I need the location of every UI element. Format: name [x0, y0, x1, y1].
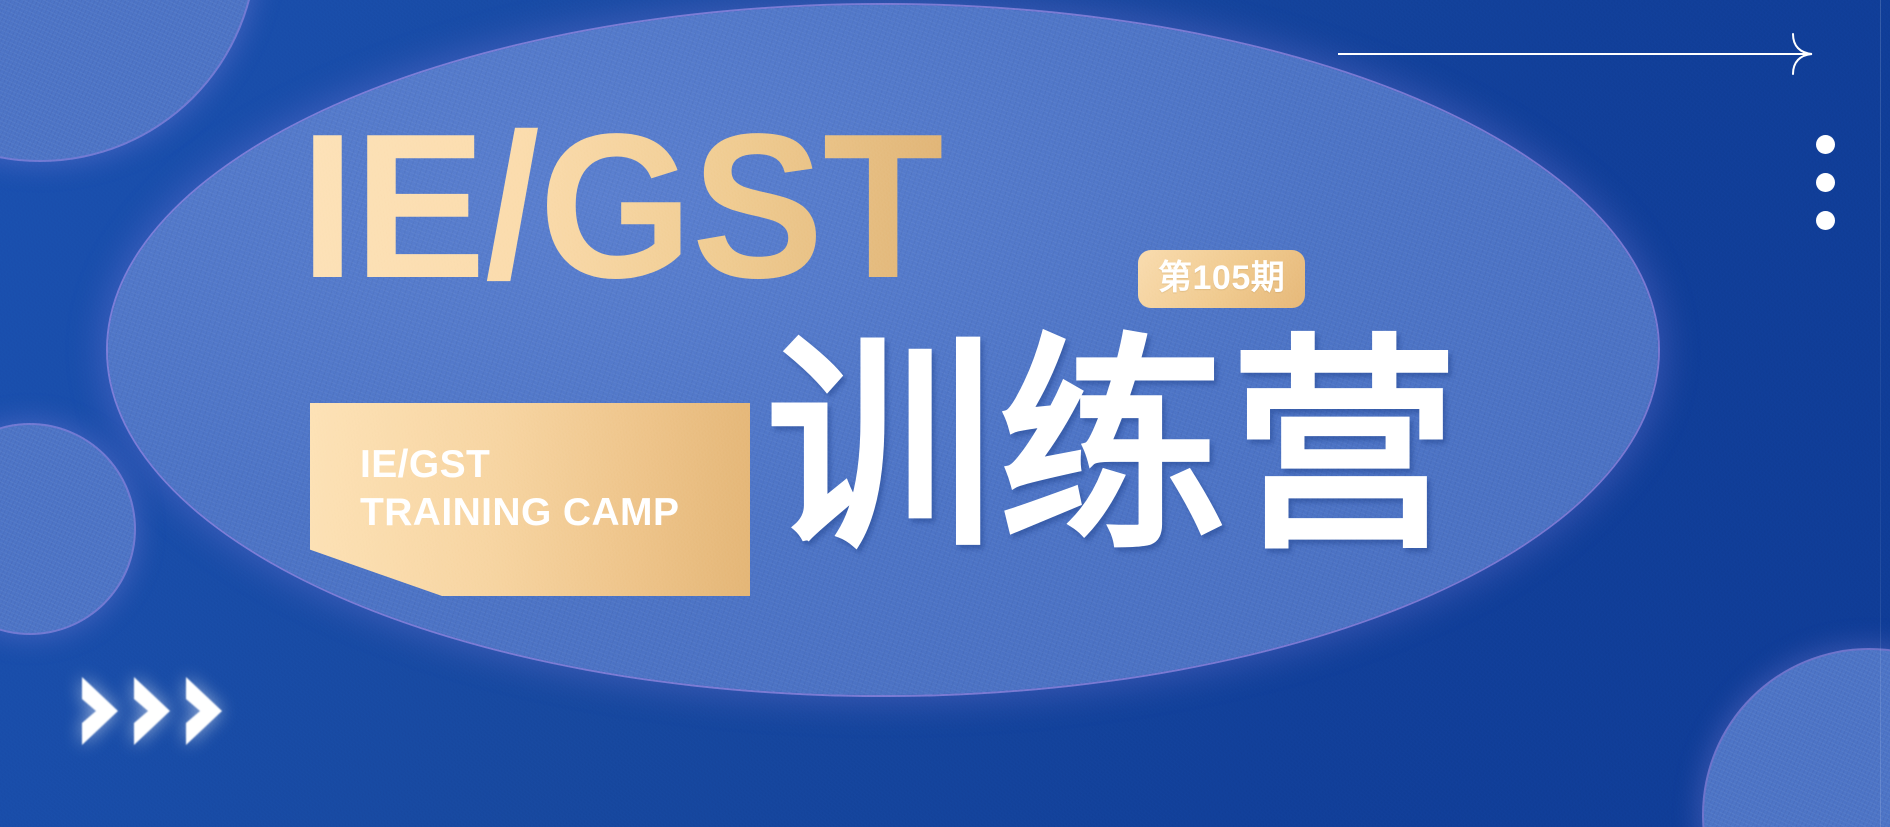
training-camp-label: IE/GST TRAINING CAMP — [360, 441, 679, 536]
chevron-3 — [182, 675, 226, 747]
dot-2 — [1816, 173, 1835, 192]
page-subtitle-cn: 训练营 — [766, 355, 1462, 542]
decorative-circle-top-left — [0, 0, 255, 160]
chevron-group — [78, 675, 226, 747]
page-title: IE/GST — [300, 118, 943, 295]
long-arrow-right-icon — [1338, 32, 1828, 76]
chevron-1 — [78, 675, 122, 747]
dot-1 — [1816, 135, 1835, 154]
decorative-circle-bottom-right — [1704, 650, 1890, 827]
right-edge-hairline — [1880, 0, 1881, 827]
promo-banner: IE/GST 第105期 IE/GST TRAINING CAMP 训练营 — [0, 0, 1890, 827]
chevron-2 — [130, 675, 174, 747]
dot-group — [1816, 135, 1835, 230]
headline-group: IE/GST — [300, 118, 969, 295]
issue-badge: 第105期 — [1138, 250, 1305, 308]
title-row: IE/GST — [300, 118, 969, 295]
training-camp-panel: IE/GST TRAINING CAMP — [310, 403, 750, 596]
decorative-circle-bottom-left — [0, 425, 134, 633]
dot-3 — [1816, 211, 1835, 230]
